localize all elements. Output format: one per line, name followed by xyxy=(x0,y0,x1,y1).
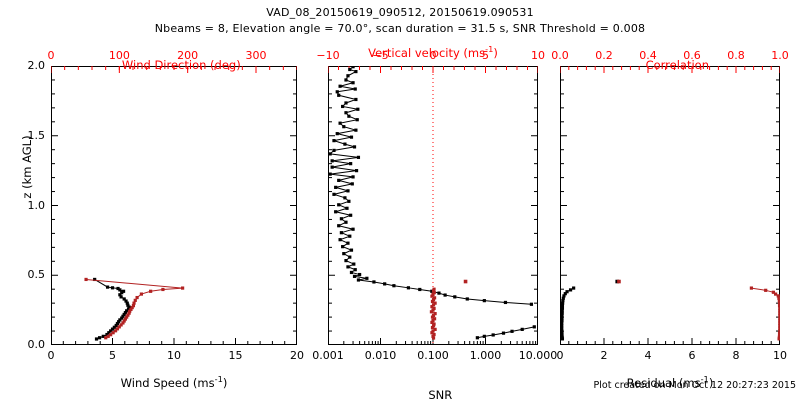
top-axis-tick-label: 0.4 xyxy=(623,49,673,62)
page-subtitle: Nbeams = 8, Elevation angle = 70.0°, sca… xyxy=(0,22,800,35)
panel-wind xyxy=(51,66,297,345)
bottom-axis-tick-label: 15 xyxy=(206,349,266,362)
top-axis-tick-label: 0.2 xyxy=(579,49,629,62)
axis-title-wind-speed: Wind Speed (ms-1) xyxy=(51,374,297,390)
bottom-axis-tick-label: 0.001 xyxy=(298,349,358,362)
wind-profile-canvas xyxy=(51,66,297,345)
bottom-axis-tick-label: 0.100 xyxy=(403,349,463,362)
panel-velocity-snr xyxy=(328,66,538,345)
top-axis-tick-label: 0.8 xyxy=(711,49,761,62)
top-axis-tick-label: 1.0 xyxy=(755,49,800,62)
top-axis-tick-label: 0 xyxy=(26,49,76,62)
y-tick-label: 1.5 xyxy=(5,129,45,142)
top-axis-tick-label: 0.0 xyxy=(535,49,585,62)
bottom-axis-tick-label: 5 xyxy=(83,349,143,362)
page-title: VAD_08_20150619_090512, 20150619.090531 xyxy=(0,6,800,19)
top-axis-tick-label: 5 xyxy=(461,49,511,62)
y-tick-label: 1.0 xyxy=(5,199,45,212)
top-axis-tick-label: −10 xyxy=(303,49,353,62)
bottom-axis-tick-label: 0 xyxy=(21,349,81,362)
bottom-axis-tick-label: 1.000 xyxy=(456,349,516,362)
top-axis-tick-label: 0.6 xyxy=(667,49,717,62)
top-axis-tick-label: 200 xyxy=(163,49,213,62)
velocity-snr-canvas xyxy=(328,66,538,345)
bottom-axis-tick-label: 0.010 xyxy=(351,349,411,362)
top-axis-tick-label: −5 xyxy=(356,49,406,62)
bottom-axis-tick-label: 10 xyxy=(750,349,800,362)
vad-plot-figure: VAD_08_20150619_090512, 20150619.090531 … xyxy=(0,0,800,400)
y-tick-label: 0.5 xyxy=(5,268,45,281)
bottom-axis-tick-label: 10 xyxy=(144,349,204,362)
plot-created-note: Plot created on Mon Oct 12 20:27:23 2015 xyxy=(594,380,796,391)
axis-title-snr: SNR xyxy=(328,374,538,416)
top-axis-tick-label: 0 xyxy=(408,49,458,62)
top-axis-tick-label: 300 xyxy=(231,49,281,62)
top-axis-tick-label: 100 xyxy=(94,49,144,62)
correlation-residual-canvas xyxy=(560,66,780,345)
panel-correlation-residual xyxy=(560,66,780,345)
